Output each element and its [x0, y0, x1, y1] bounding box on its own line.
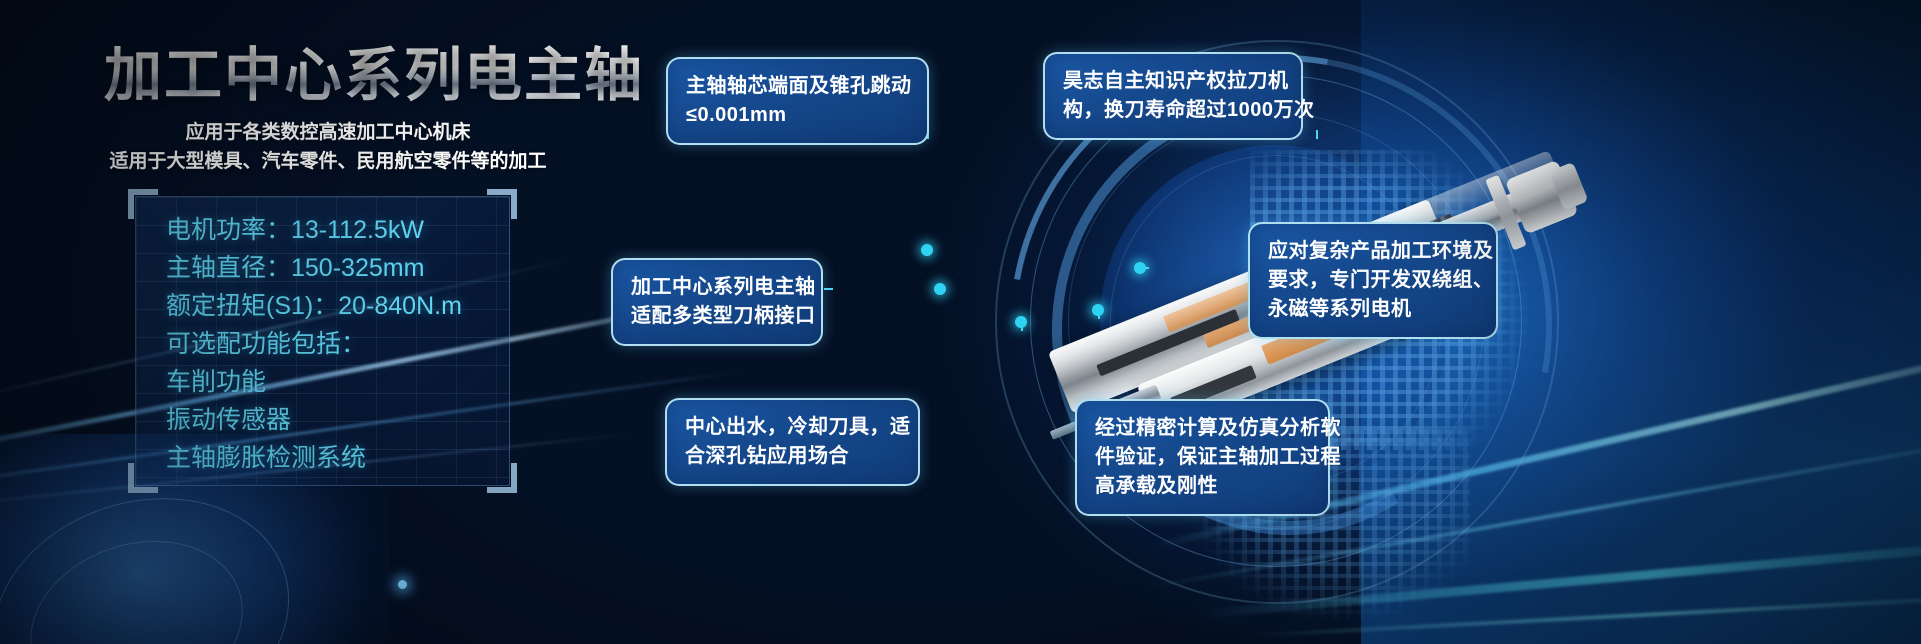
vignette-overlay: [0, 0, 1921, 644]
product-banner: 加工中心系列电主轴 应用于各类数控高速加工中心机床 适用于大型模具、汽车零件、民…: [0, 0, 1921, 644]
